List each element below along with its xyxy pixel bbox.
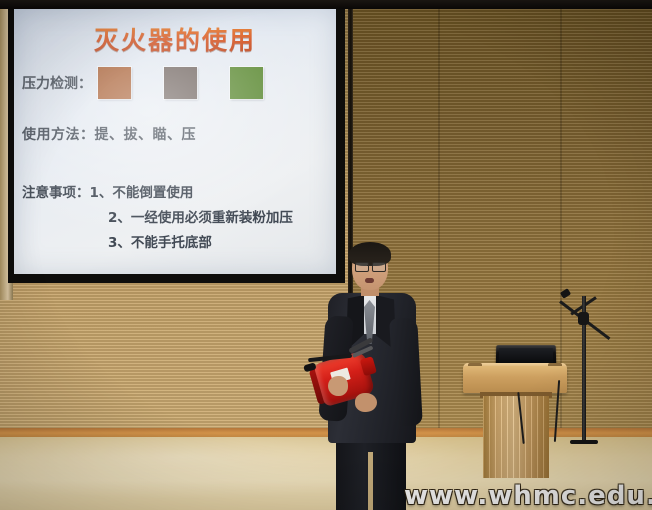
precaution-line-1: 注意事项：1、不能倒置使用	[22, 181, 293, 206]
swatch-over-pressure	[230, 67, 263, 99]
slide-title: 灭火器的使用	[14, 21, 336, 57]
precaution-line-3: 3、不能手托底部	[22, 231, 293, 256]
podium-column-grooves	[483, 396, 549, 478]
pressure-color-swatches	[98, 67, 263, 99]
microphone-stand-joint	[578, 312, 589, 325]
glasses-icon	[355, 262, 369, 272]
pressure-detection-row: 压力检测：	[22, 67, 263, 99]
microphone-stand-base	[570, 440, 598, 444]
pressure-detection-label: 压力检测：	[22, 73, 92, 93]
presenter-leg-gap	[368, 452, 373, 510]
podium-desktop	[463, 366, 567, 393]
usage-method-line: 使用方法：提、拔、瞄、压	[22, 124, 196, 144]
presenter-arm-right	[389, 317, 423, 426]
photo-scene: 灭火器的使用 压力检测： 使用方法：提、拔、瞄、压 注意事项：1、不能倒置使用 …	[0, 0, 652, 510]
presenter-hand-left	[328, 376, 348, 396]
presentation-slide: 灭火器的使用 压力检测： 使用方法：提、拔、瞄、压 注意事项：1、不能倒置使用 …	[14, 9, 336, 274]
projection-screen: 灭火器的使用 压力检测： 使用方法：提、拔、瞄、压 注意事项：1、不能倒置使用 …	[14, 9, 336, 274]
laptop-screen	[499, 348, 553, 363]
site-watermark: www.whmc.edu.cn	[404, 481, 652, 510]
ceiling-dark-band	[0, 0, 652, 9]
precautions-block: 注意事项：1、不能倒置使用 2、一经使用必须重新装粉加压 3、不能手托底部	[22, 181, 293, 256]
glasses-icon-right	[372, 262, 386, 272]
swatch-normal-pressure	[164, 67, 197, 99]
precaution-line-2: 2、一经使用必须重新装粉加压	[22, 206, 293, 231]
presenter	[300, 238, 440, 510]
presenter-mouth	[365, 278, 374, 283]
swatch-under-pressure	[98, 67, 131, 99]
presenter-hand-right	[355, 393, 377, 412]
glasses-bridge	[367, 265, 372, 266]
